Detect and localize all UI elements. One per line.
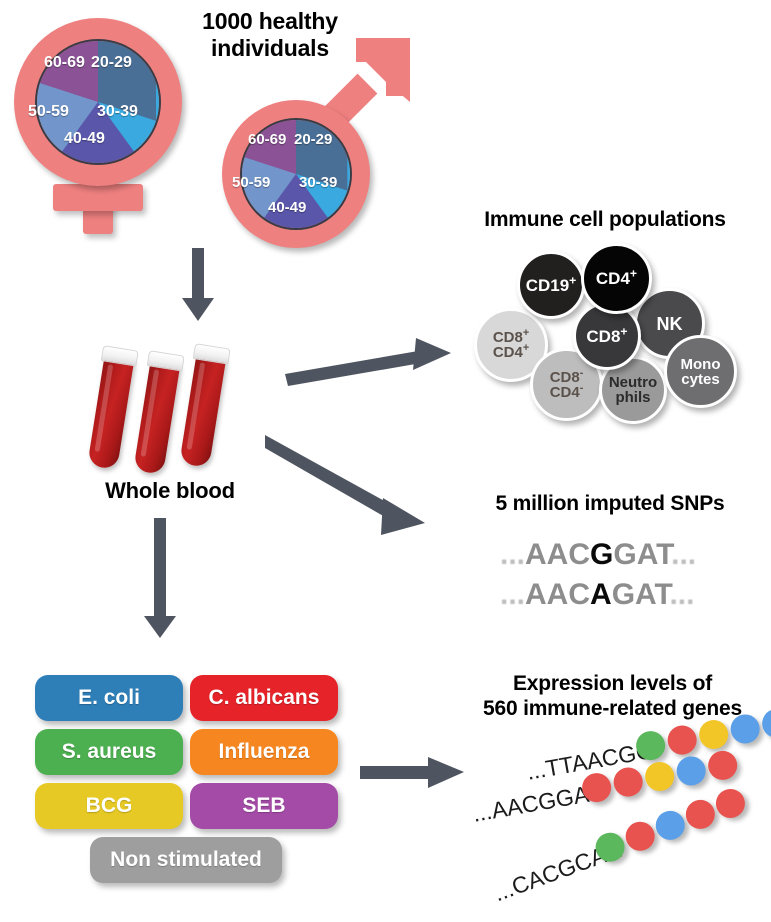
snp-row-1-variant: G [590, 538, 613, 571]
female-age-label-60-69: 60-69 [44, 54, 85, 72]
expression-strand-1-bead-2 [665, 723, 699, 757]
snp-row-1-suffix: ... [671, 538, 696, 571]
arrow-stimuli-to-expression [360, 755, 465, 791]
expression-strand-3-bead-3 [652, 807, 689, 844]
blood-tube [178, 344, 228, 477]
snp-row-2-variant: A [590, 578, 612, 611]
immune-bubble-cd4pos-label: CD4+ [596, 270, 637, 287]
blood-tube [132, 351, 182, 484]
immune-bubble-neutrophils-line2: phils [609, 390, 657, 405]
cohort-title-line1: 1000 healthy [170, 8, 370, 35]
expression-strand-1-bead-3 [697, 718, 731, 752]
male-age-label-60-69: 60-69 [248, 131, 286, 148]
expression-strand-2-bead-4 [674, 754, 708, 788]
stimulus-box-non-stimulated[interactable]: Non stimulated [90, 837, 282, 883]
female-age-label-20-29: 20-29 [91, 54, 132, 72]
immune-cell-populations-title: Immune cell populations [450, 208, 760, 233]
immune-bubble-neutrophils-line1: Neutro [609, 375, 657, 390]
immune-bubble-nk-label: NK [657, 315, 683, 333]
immune-bubble-monocytes-line1: Mono [681, 357, 721, 372]
immune-bubble-cd8neg-cd4neg-line1: CD8- [550, 370, 584, 385]
immune-bubble-cd4pos: CD4+ [581, 243, 652, 314]
female-age-label-40-49: 40-49 [64, 130, 105, 148]
immune-bubble-cd19pos-label: CD19+ [526, 277, 577, 294]
whole-blood-label: Whole blood [70, 478, 270, 504]
arrow-cohort-to-blood [178, 248, 218, 323]
snp-row-1-post: GAT [613, 538, 671, 571]
expression-title: Expression levels of 560 immune-related … [460, 672, 765, 722]
blood-tube [86, 346, 136, 479]
expression-title-line2: 560 immune-related genes [460, 697, 765, 722]
male-age-label-30-39: 30-39 [299, 174, 337, 191]
snp-row-2-post: GAT [612, 578, 670, 611]
immune-bubble-cd8neg-cd4neg-line2: CD4- [550, 385, 584, 400]
immune-cell-bubbles-group: CD8+ CD4+ CD8- CD4- Neutro phils NK Mono… [460, 240, 760, 425]
immune-bubble-cd8pos-cd4pos-line2: CD4+ [493, 345, 529, 360]
female-gender-symbol: 20-29 30-39 40-49 50-59 60-69 [8, 12, 188, 237]
snp-row-1-prefix: ... [500, 538, 525, 571]
male-age-label-40-49: 40-49 [268, 199, 306, 216]
expression-title-line1: Expression levels of [460, 672, 765, 697]
stimulus-box-influenza[interactable]: Influenza [190, 729, 338, 775]
female-symbol-crossbar [53, 184, 143, 211]
expression-strand-2-bead-5 [706, 749, 740, 783]
male-gender-symbol: 20-29 30-39 40-49 50-59 60-69 [210, 38, 420, 248]
immune-bubble-monocytes: Mono cytes [664, 335, 737, 408]
snp-row-1-pre: AAC [525, 538, 590, 571]
expression-strand-3-bead-5 [712, 785, 749, 822]
male-age-label-20-29: 20-29 [294, 131, 332, 148]
female-age-label-50-59: 50-59 [28, 103, 69, 121]
stimulus-box-seb[interactable]: SEB [190, 783, 338, 829]
stimulus-box-bcg[interactable]: BCG [35, 783, 183, 829]
stimulus-box-e-coli[interactable]: E. coli [35, 675, 183, 721]
female-age-label-30-39: 30-39 [97, 103, 138, 121]
snp-sequence-row-2: ...AACAGAT... [500, 578, 694, 612]
immune-bubble-cd19pos: CD19+ [517, 251, 585, 319]
snp-row-2-prefix: ... [500, 578, 525, 611]
arrow-blood-to-stimuli [140, 518, 180, 640]
expression-strand-3-bead-4 [682, 796, 719, 833]
snp-row-2-pre: AAC [525, 578, 590, 611]
stimuli-group: E. coli C. albicans S. aureus Influenza … [35, 675, 335, 900]
immune-bubble-monocytes-line2: cytes [681, 372, 721, 387]
snps-title: 5 million imputed SNPs [460, 492, 760, 517]
arrow-blood-to-immune [285, 330, 455, 390]
expression-strand-3-bead-2 [622, 818, 659, 855]
expression-strands-group: ...TTAACGG ...AACGGAT ...CACGCAA [455, 735, 771, 915]
blood-tubes-group [100, 340, 260, 480]
stimulus-box-s-aureus[interactable]: S. aureus [35, 729, 183, 775]
stimulus-box-c-albicans[interactable]: C. albicans [190, 675, 338, 721]
immune-bubble-cd8pos-label: CD8+ [586, 328, 627, 345]
snp-sequence-row-1: ...AACGGAT... [500, 538, 696, 572]
male-age-label-50-59: 50-59 [232, 174, 270, 191]
snp-row-2-suffix: ... [669, 578, 694, 611]
figure-canvas: 1000 healthy individuals 20-29 30-39 40-… [0, 0, 771, 922]
arrow-blood-to-snps [265, 435, 445, 545]
